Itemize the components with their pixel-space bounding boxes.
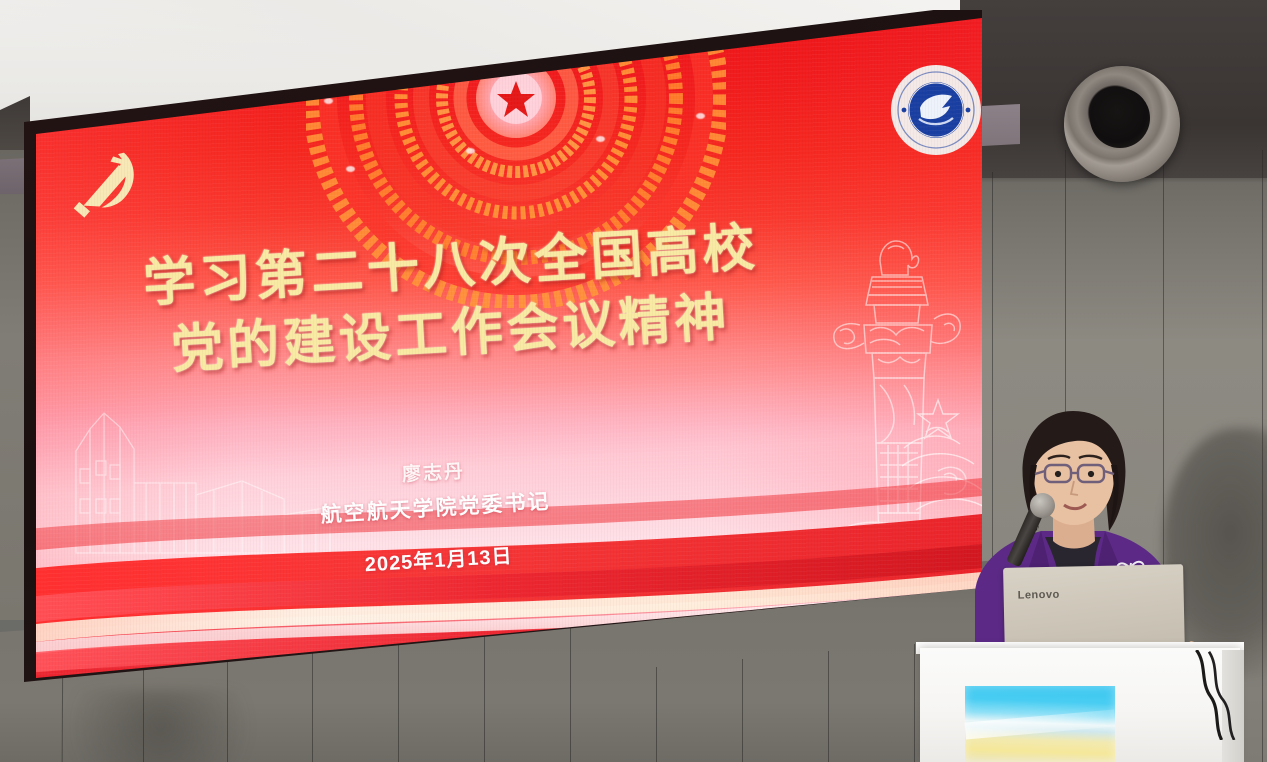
ceiling-speaker-icon: [1064, 66, 1180, 182]
wall-seam: [656, 667, 657, 762]
presentation-photo-scene: 学习第二十八次全国高校 党的建设工作会议精神 廖志丹 航空航天学院党委书记 20…: [0, 0, 1267, 762]
microphone-head-icon: [1030, 493, 1055, 518]
microphone-cable: [1188, 650, 1248, 740]
laptop-brand-label: Lenovo: [1018, 589, 1060, 602]
wall-seam: [742, 659, 743, 762]
left-wall-strip: [0, 150, 26, 620]
wall-shadow: [70, 690, 250, 762]
wall-seam: [914, 644, 915, 762]
wall-seam: [828, 651, 829, 762]
podium-graphic-panel: [965, 686, 1115, 762]
